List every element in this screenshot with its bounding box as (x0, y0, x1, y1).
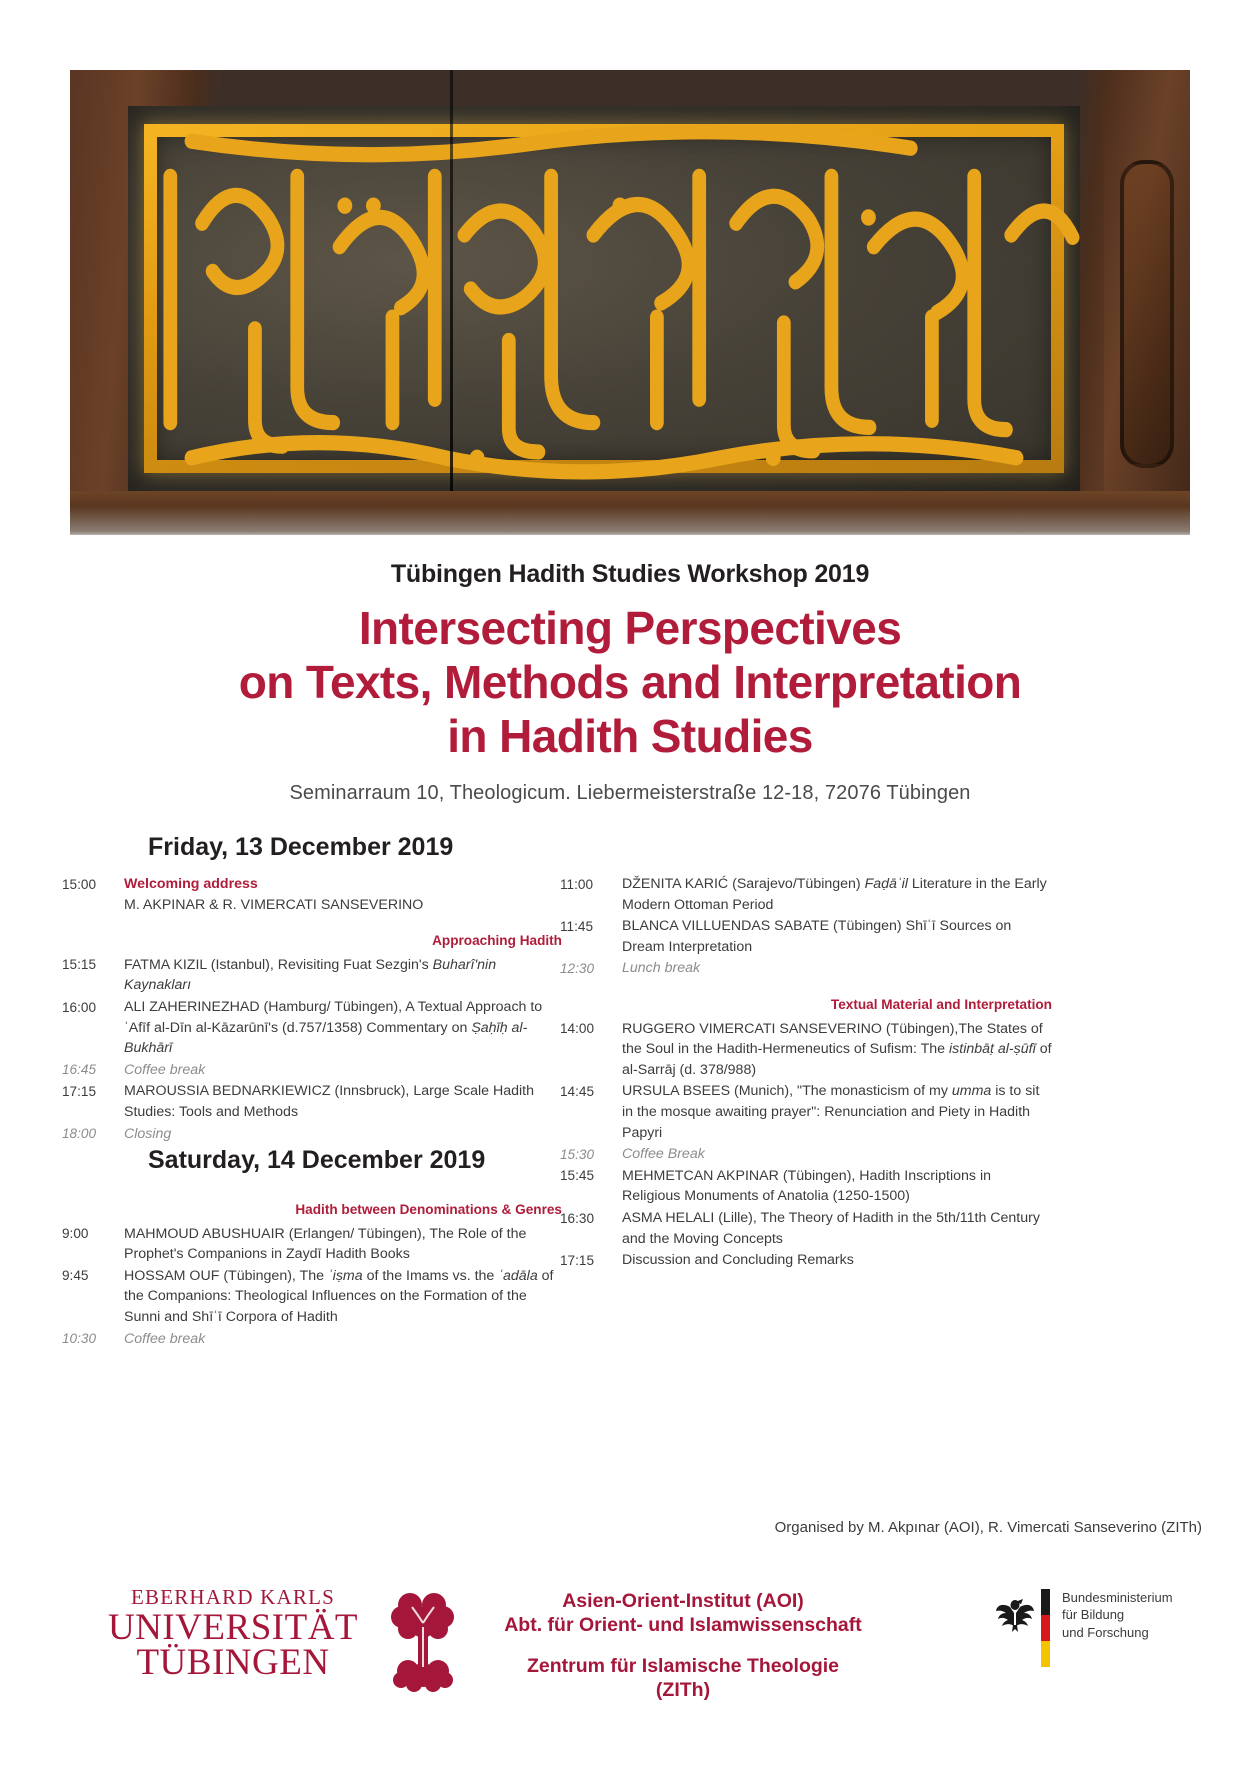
row-time: 14:45 (560, 1081, 622, 1143)
federal-eagle-icon (995, 1591, 1035, 1633)
logo-row: EBERHARD KARLS UNIVERSITÄT TÜBINGEN (0, 1565, 1260, 1745)
workshop-eyebrow: Tübingen Hadith Studies Workshop 2019 (0, 560, 1260, 589)
row-italic-a: ʿiṣma (328, 1268, 363, 1284)
row-time: 14:00 (560, 1019, 622, 1081)
schedule-row-break: 16:45 Coffee break (62, 1060, 562, 1081)
row-time: 12:30 (560, 958, 622, 979)
schedule-row-break: 10:30 Coffee break (62, 1329, 562, 1350)
bmbf-line-1: Bundesministerium (1062, 1589, 1173, 1606)
row-text-a: URSULA BSEES (Munich), "The monasticism … (622, 1083, 952, 1099)
hero-image (70, 70, 1190, 535)
row-time: 10:30 (62, 1329, 124, 1350)
row-time: 11:45 (560, 916, 622, 957)
carved-ornament-icon (1120, 160, 1174, 468)
title-line-1: Intersecting Perspectives (0, 602, 1260, 656)
title-line-2: on Texts, Methods and Interpretation (0, 656, 1260, 710)
row-body: Lunch break (622, 958, 1052, 979)
schedule-row: 11:00 DŽENITA KARIĆ (Sarajevo/Tübingen) … (560, 874, 1052, 915)
schedule-column-friday: 15:00 Welcoming address M. AKPINAR & R. … (62, 874, 562, 1145)
aoi-text-block: Asien-Orient-Institut (AOI) Abt. für Ori… (458, 1579, 908, 1703)
schedule-row-break: 18:00 Closing (62, 1124, 562, 1145)
bmbf-line-2: für Bildung (1062, 1606, 1173, 1623)
row-time: 16:30 (560, 1208, 622, 1249)
session-heading-approaching-hadith: Approaching Hadith (62, 931, 562, 951)
row-body: HOSSAM OUF (Tübingen), The ʿiṣma of the … (124, 1266, 562, 1328)
row-body: FATMA KIZIL (Istanbul), Revisiting Fuat … (124, 955, 562, 996)
page-title: Intersecting Perspectives on Texts, Meth… (0, 602, 1260, 763)
venue-line: Seminarraum 10, Theologicum. Liebermeist… (0, 782, 1260, 805)
schedule-row: 16:00 ALI ZAHERINEZHAD (Hamburg/ Tübinge… (62, 997, 562, 1059)
schedule-row: 15:00 Welcoming address M. AKPINAR & R. … (62, 874, 562, 915)
panel-seam (450, 70, 453, 535)
row-body: Closing (124, 1124, 562, 1145)
row-body: Coffee break (124, 1060, 562, 1081)
aoi-zith-logo: Asien-Orient-Institut (AOI) Abt. für Ori… (388, 1579, 908, 1703)
schedule-column-saturday-afternoon: 11:00 DŽENITA KARIĆ (Sarajevo/Tübingen) … (560, 874, 1052, 1272)
schedule-column-saturday-morning: Hadith between Denominations & Genres 9:… (62, 1190, 562, 1350)
row-time: 18:00 (62, 1124, 124, 1145)
row-time: 16:00 (62, 997, 124, 1059)
schedule-row: 16:30 ASMA HELALI (Lille), The Theory of… (560, 1208, 1052, 1249)
aoi-line-3: Zentrum für Islamische Theologie (458, 1654, 908, 1678)
bmbf-text-block: Bundesministerium für Bildung und Forsch… (1062, 1589, 1173, 1641)
aoi-line-2: Abt. für Orient- und Islamwissenschaft (458, 1613, 908, 1637)
bmbf-line-3: und Forschung (1062, 1624, 1173, 1641)
organised-by-line: Organised by M. Akpınar (AOI), R. Vimerc… (0, 1519, 1202, 1536)
schedule-row: 11:45 BLANCA VILLUENDAS SABATE (Tübingen… (560, 916, 1052, 957)
day-heading-saturday: Saturday, 14 December 2019 (148, 1146, 485, 1175)
schedule-row: 14:45 URSULA BSEES (Munich), "The monast… (560, 1081, 1052, 1143)
row-time: 15:15 (62, 955, 124, 996)
schedule-row: 15:45 MEHMETCAN AKPINAR (Tübingen), Hadi… (560, 1166, 1052, 1207)
row-time: 15:00 (62, 874, 124, 915)
schedule-row: 9:00 MAHMOUD ABUSHUAIR (Erlangen/ Tübing… (62, 1224, 562, 1265)
row-body: BLANCA VILLUENDAS SABATE (Tübingen) Shīʿ… (622, 916, 1052, 957)
schedule-row: 17:15 MAROUSSIA BEDNARKIEWICZ (Innsbruck… (62, 1081, 562, 1122)
kufic-inscription-icon (128, 106, 1080, 493)
row-time: 9:00 (62, 1224, 124, 1265)
row-italic-b: ʿadāla (498, 1268, 537, 1284)
hero-bottom-shelf (70, 491, 1190, 535)
row-time: 11:00 (560, 874, 622, 915)
row-body: ALI ZAHERINEZHAD (Hamburg/ Tübingen), A … (124, 997, 562, 1059)
row-italic-a: Faḍāʾil (865, 876, 908, 892)
row-body: MAROUSSIA BEDNARKIEWICZ (Innsbruck), Lar… (124, 1081, 562, 1122)
hero-right-wood-panel (1104, 70, 1190, 535)
row-body: ASMA HELALI (Lille), The Theory of Hadit… (622, 1208, 1052, 1249)
row-body: URSULA BSEES (Munich), "The monasticism … (622, 1081, 1052, 1143)
row-text-b: of the Imams vs. the (363, 1268, 499, 1284)
bmbf-logo: Bundesministerium für Bildung und Forsch… (995, 1589, 1173, 1667)
row-body: Coffee break (124, 1329, 562, 1350)
row-time: 17:15 (560, 1250, 622, 1271)
row-time: 9:45 (62, 1266, 124, 1328)
day-heading-friday: Friday, 13 December 2019 (148, 833, 453, 862)
aoi-line-4: (ZITh) (458, 1678, 908, 1702)
row-body: Welcoming address M. AKPINAR & R. VIMERC… (124, 874, 562, 915)
row-body: MEHMETCAN AKPINAR (Tübingen), Hadith Ins… (622, 1166, 1052, 1207)
session-heading-denominations-genres: Hadith between Denominations & Genres (62, 1200, 562, 1220)
row-body: Coffee Break (622, 1144, 1052, 1165)
row-time: 15:30 (560, 1144, 622, 1165)
schedule-row-break: 15:30 Coffee Break (560, 1144, 1052, 1165)
row-text-a: DŽENITA KARIĆ (Sarajevo/Tübingen) (622, 876, 865, 892)
german-flag-bar-icon (1041, 1589, 1050, 1667)
row-body: RUGGERO VIMERCATI SANSEVERINO (Tübingen)… (622, 1019, 1052, 1081)
row-text-a: HOSSAM OUF (Tübingen), The (124, 1268, 328, 1284)
aoi-line-1: Asien-Orient-Institut (AOI) (458, 1589, 908, 1613)
row-italic-a: istinbāṭ al-ṣūfī (949, 1041, 1036, 1057)
row-time: 15:45 (560, 1166, 622, 1207)
row-title: Welcoming address (124, 876, 258, 892)
row-body: Discussion and Concluding Remarks (622, 1250, 1052, 1271)
university-tuebingen-logo: EBERHARD KARLS UNIVERSITÄT TÜBINGEN (98, 1585, 368, 1684)
schedule-row: 15:15 FATMA KIZIL (Istanbul), Revisiting… (62, 955, 562, 996)
row-subtitle: M. AKPINAR & R. VIMERCATI SANSEVERINO (124, 895, 562, 916)
schedule-row: 17:15 Discussion and Concluding Remarks (560, 1250, 1052, 1271)
row-text: FATMA KIZIL (Istanbul), Revisiting Fuat … (124, 957, 433, 973)
uni-logo-line-3: TÜBINGEN (98, 1641, 368, 1684)
schedule-row-break: 12:30 Lunch break (560, 958, 1052, 979)
hero-inscription-plaque (128, 106, 1080, 493)
row-body: DŽENITA KARIĆ (Sarajevo/Tübingen) Faḍāʾi… (622, 874, 1052, 915)
tree-icon (388, 1587, 458, 1697)
schedule-row: 9:45 HOSSAM OUF (Tübingen), The ʿiṣma of… (62, 1266, 562, 1328)
title-line-3: in Hadith Studies (0, 710, 1260, 764)
row-time: 16:45 (62, 1060, 124, 1081)
poster-root: Tübingen Hadith Studies Workshop 2019 In… (0, 0, 1260, 1784)
aoi-spacer (458, 1638, 908, 1654)
row-italic-a: umma (952, 1083, 991, 1099)
session-heading-textual-material: Textual Material and Interpretation (560, 995, 1052, 1015)
row-time: 17:15 (62, 1081, 124, 1122)
schedule-row: 14:00 RUGGERO VIMERCATI SANSEVERINO (Tüb… (560, 1019, 1052, 1081)
row-body: MAHMOUD ABUSHUAIR (Erlangen/ Tübingen), … (124, 1224, 562, 1265)
